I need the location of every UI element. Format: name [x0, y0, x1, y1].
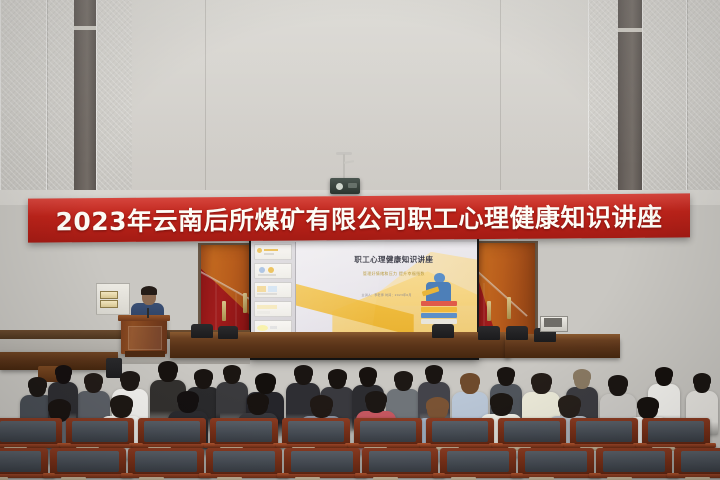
chair-armrest — [511, 474, 601, 478]
chair-arm-cap — [60, 443, 71, 446]
photo-scene: 职工心理健康知识讲座 管理好情绪和压力 提升幸福指数 主讲人：李老师 时间：20… — [0, 0, 720, 480]
chair-armrest — [433, 474, 523, 478]
chair-armrest — [199, 474, 289, 478]
chair-armrest — [277, 474, 367, 478]
auditorium-chair[interactable] — [596, 448, 672, 480]
chair-arm-cap — [121, 473, 133, 476]
chair-back — [518, 448, 594, 476]
chair-cushion — [291, 451, 353, 471]
chair-armrest — [589, 474, 679, 478]
chair-arm-cap — [420, 443, 431, 446]
chair-cushion — [525, 451, 587, 471]
chair-cushion — [288, 421, 344, 441]
chair-cushion — [603, 451, 665, 471]
auditorium-chair[interactable] — [206, 448, 282, 480]
chair-back — [498, 418, 566, 446]
chair-arm-cap — [564, 443, 575, 446]
chair-cushion — [57, 451, 119, 471]
chair-cushion — [369, 451, 431, 471]
chair-back — [210, 418, 278, 446]
chair-cushion — [447, 451, 509, 471]
chair-arm-cap — [667, 473, 679, 476]
chair-back — [282, 418, 350, 446]
chair-cushion — [432, 421, 488, 441]
chair-cushion — [648, 421, 704, 441]
chair-arm-cap — [492, 443, 503, 446]
chair-cushion — [360, 421, 416, 441]
chair-back — [128, 448, 204, 476]
chair-back — [0, 418, 62, 446]
chair-armrest — [121, 474, 211, 478]
chair-arm-cap — [43, 473, 55, 476]
chair-arm-cap — [348, 443, 359, 446]
chair-back — [440, 448, 516, 476]
chair-back — [570, 418, 638, 446]
chair-back — [596, 448, 672, 476]
chair-arm-cap — [204, 443, 215, 446]
chair-arm-cap — [705, 443, 716, 446]
chair-back — [0, 448, 48, 476]
chair-cushion — [213, 451, 275, 471]
chair-back — [642, 418, 710, 446]
chair-back — [426, 418, 494, 446]
chair-arm-cap — [132, 443, 143, 446]
chair-arm-cap — [589, 473, 601, 476]
chair-cushion — [0, 451, 41, 471]
auditorium-chair[interactable] — [518, 448, 594, 480]
chair-cushion — [216, 421, 272, 441]
auditorium-chair[interactable] — [0, 448, 48, 480]
chair-arm-cap — [511, 473, 523, 476]
chair-back — [206, 448, 282, 476]
chair-arm-cap — [636, 443, 647, 446]
chair-armrest — [355, 474, 445, 478]
chair-cushion — [504, 421, 560, 441]
chair-cushion — [0, 421, 56, 441]
chair-cushion — [576, 421, 632, 441]
chair-back — [66, 418, 134, 446]
chair-cushion — [144, 421, 200, 441]
chair-arm-cap — [276, 443, 287, 446]
auditorium-chair[interactable] — [440, 448, 516, 480]
chair-back — [362, 448, 438, 476]
chair-armrest — [43, 474, 133, 478]
chair-back — [138, 418, 206, 446]
auditorium-chair[interactable] — [284, 448, 360, 480]
chair-back — [50, 448, 126, 476]
chair-back — [354, 418, 422, 446]
chair-cushion — [135, 451, 197, 471]
auditorium-chair[interactable] — [50, 448, 126, 480]
chair-arm-cap — [433, 473, 445, 476]
auditorium-chair[interactable] — [674, 448, 720, 480]
chair-back — [284, 448, 360, 476]
chair-cushion — [681, 451, 720, 471]
chair-arm-cap — [199, 473, 211, 476]
chair-arm-cap — [355, 473, 367, 476]
chair-arm-cap — [277, 473, 289, 476]
auditorium-chair[interactable] — [128, 448, 204, 480]
chair-cushion — [72, 421, 128, 441]
auditorium-chair[interactable] — [362, 448, 438, 480]
chair-rows — [0, 0, 720, 480]
chair-back — [674, 448, 720, 476]
